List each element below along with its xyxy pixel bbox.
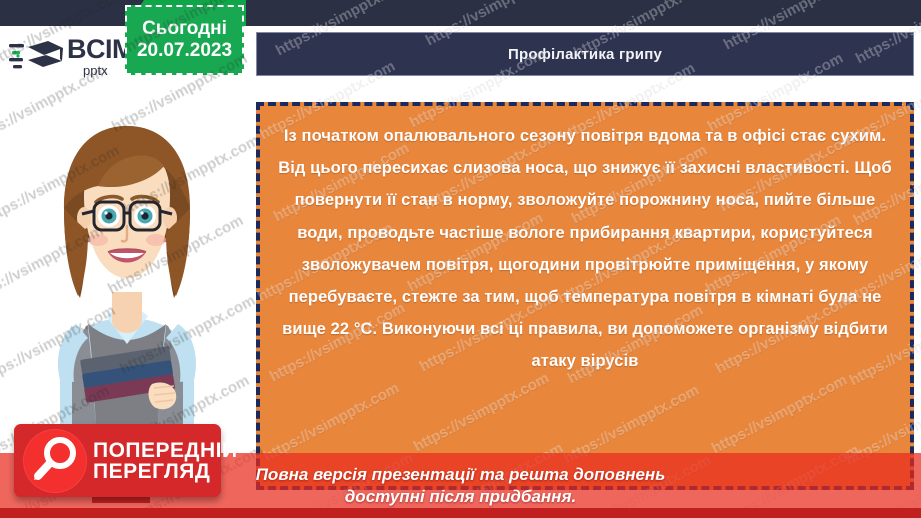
graduation-cap-icon [8,36,64,76]
purchase-notice-line2: доступні після придбання. [345,486,576,507]
presentation-slide: BCIM pptx Сьогодні 20.07.2023 Профілакти… [0,0,921,518]
preview-badge-line2: ПЕРЕГЛЯД [93,461,238,482]
preview-badge-line1: ПОПЕРЕДНІЙ [93,440,238,461]
purchase-notice-line1: Повна версія презентації та решта доповн… [256,464,666,485]
bottom-red-strip [0,508,921,518]
date-badge-value: 20.07.2023 [137,41,232,61]
teacher-character-illustration [2,92,252,437]
preview-badge[interactable]: ПОПЕРЕДНІЙ ПЕРЕГЛЯД [14,424,221,497]
content-body-text: Із початком опалювального сезону повітря… [278,120,892,377]
date-badge-label: Сьогодні [142,19,227,39]
content-panel: Із початком опалювального сезону повітря… [256,102,914,490]
slide-title-bar: Профілактика грипу [256,32,914,76]
brand-logo[interactable]: BCIM pptx [8,32,130,80]
magnifying-glass-icon [23,429,87,493]
today-date-badge: Сьогодні 20.07.2023 [125,5,244,75]
logo-subtext: pptx [83,64,108,77]
page-title: Профілактика грипу [508,46,662,63]
logo-wordmark: BCIM [67,36,134,63]
